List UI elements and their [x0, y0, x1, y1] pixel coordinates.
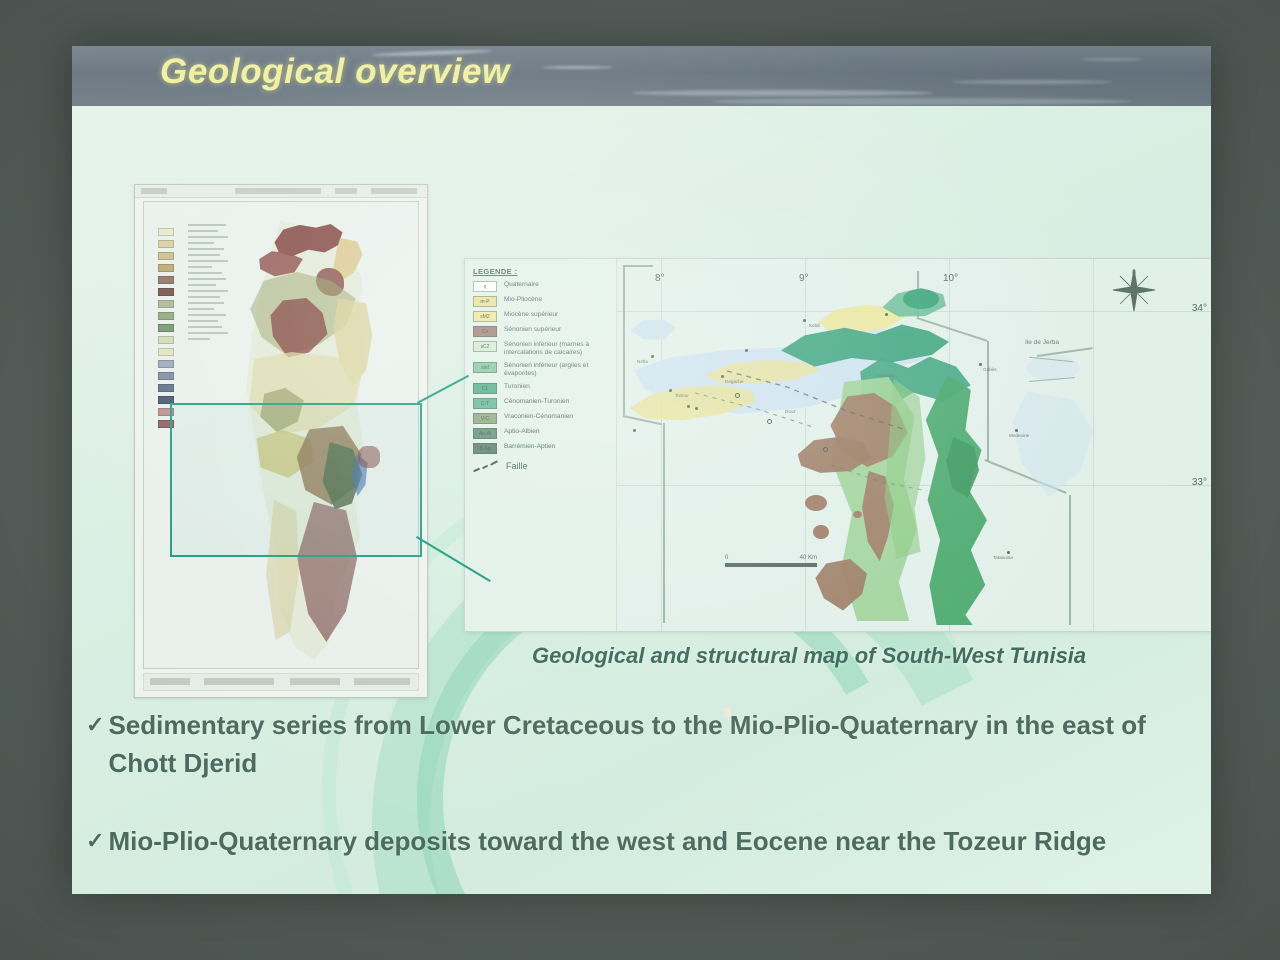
legend-label: Turonien [504, 383, 530, 391]
legend-item: V-CVraconien-Cénomanien [473, 413, 610, 424]
longitude-label-10: 10° [943, 273, 958, 284]
legend-swatch: C-T [473, 398, 497, 409]
borehole-marker [823, 447, 828, 452]
town-label: Tataouine [993, 555, 1013, 560]
legend-item: m-PMio-Pliocène [473, 296, 610, 307]
legend-item: sM2Miocène supérieur [473, 311, 610, 322]
town-marker [721, 375, 724, 378]
jerba-label: Ile de Jerba [1025, 339, 1059, 346]
town-label: Degache [725, 379, 743, 384]
legend-swatch: Cs [473, 326, 497, 337]
banner-streak [632, 90, 932, 96]
banner-streak [952, 80, 1112, 84]
longitude-label-9: 9° [799, 273, 809, 284]
legend-label: Aptio-Albien [504, 428, 540, 436]
legend-swatch: B-Ap [473, 443, 497, 454]
town-label: Tozeur [675, 393, 689, 398]
legend-item: CsSénonien supérieur [473, 326, 610, 337]
longitude-label-8: 8° [655, 273, 665, 284]
latitude-label-34: 34° [1192, 303, 1207, 314]
town-label: Nefta [637, 359, 648, 364]
town-marker [885, 313, 888, 316]
slide-title: Geological overview [160, 52, 510, 92]
legend-swatch: V-C [473, 413, 497, 424]
legend-label: Sénonien inférieur (argiles et évaporite… [504, 362, 610, 379]
legend-item: qQuaternaire [473, 281, 610, 292]
town-label: Medenine [1009, 433, 1029, 438]
checkmark-icon: ✓ [86, 706, 104, 744]
slide-title-banner: Geological overview [72, 46, 1211, 106]
southwest-tunisia-map-panel: LEGENDE : qQuaternairem-PMio-PliocènesM2… [464, 258, 1211, 632]
bullet-text: Sedimentary series from Lower Cretaceous… [108, 706, 1197, 782]
banner-streak [1082, 58, 1142, 61]
geo-unit-senonian-sup [805, 495, 827, 511]
study-area-highlight-rect [170, 403, 422, 557]
legend-item: B-ApBarrémien-Aptien [473, 443, 610, 454]
map-canvas: 8° 9° 10° 34° 33° Ile de Jerba [617, 259, 1211, 631]
legend-swatch: C1 [473, 383, 497, 394]
legend-item: Ap-AlAptio-Albien [473, 428, 610, 439]
legend-swatch: sM2 [473, 311, 497, 322]
geo-unit-aptian-albian [915, 375, 1005, 625]
borehole-marker [767, 419, 772, 424]
town-marker [669, 389, 672, 392]
borehole-marker [735, 393, 740, 398]
chott-el-gharsa [625, 317, 679, 343]
legend-label: Mio-Pliocène [504, 296, 542, 304]
town-marker [803, 319, 806, 322]
town-label: Kebili [809, 323, 820, 328]
town-label: Matmâta [877, 373, 895, 378]
sheet-legend-text [188, 224, 230, 344]
legend-rows: qQuaternairem-PMio-PliocènesM2Miocène su… [473, 281, 610, 454]
town-label: Gabès [983, 367, 997, 372]
scale-max: 40 Km [800, 555, 817, 561]
town-marker [745, 349, 748, 352]
legend-label: Vraconien-Cénomanien [504, 413, 573, 421]
legend-title: LEGENDE : [473, 267, 610, 276]
svg-text:N: N [1132, 270, 1136, 276]
sheet-footer [143, 673, 419, 691]
town-marker [1007, 551, 1010, 554]
checkmark-icon: ✓ [86, 822, 104, 860]
town-marker [651, 355, 654, 358]
legend-item: C-TCénomanien-Turonien [473, 398, 610, 409]
legend-swatch: sC2 [473, 341, 497, 352]
legend-fault-row: Faille [473, 460, 610, 472]
legend-item: sC2Sénonien inférieur (marnes à intercal… [473, 341, 610, 358]
geo-unit-senonian-sup [853, 511, 862, 518]
legend-swatch: m-P [473, 296, 497, 307]
map-scale-bar: 0 40 Km [725, 555, 817, 567]
fault-symbol-icon [473, 460, 499, 472]
town-marker [695, 407, 698, 410]
scale-min: 0 [725, 555, 728, 561]
legend-swatch: q [473, 281, 497, 292]
map-legend: LEGENDE : qQuaternairem-PMio-PliocènesM2… [465, 259, 617, 631]
geo-unit-turonian [903, 289, 939, 309]
sheet-header [135, 185, 427, 198]
legend-swatch: Ap-Al [473, 428, 497, 439]
presentation-slide: Geological overview [72, 46, 1211, 894]
banner-streak [542, 66, 612, 69]
bullet-text: Mio-Plio-Quaternary deposits toward the … [108, 822, 1197, 860]
bullet-list: ✓ Sedimentary series from Lower Cretaceo… [86, 706, 1197, 866]
town-label: Douz [785, 409, 796, 414]
town-marker [633, 429, 636, 432]
town-marker [687, 405, 690, 408]
latitude-label-33: 33° [1192, 477, 1207, 488]
bullet-item: ✓ Mio-Plio-Quaternary deposits toward th… [86, 822, 1197, 860]
projection-wall: Geological overview [0, 0, 1280, 960]
compass-rose-icon: N [1111, 267, 1157, 313]
scale-bar-line [725, 563, 817, 567]
geo-unit-senonian-sup [813, 525, 829, 539]
bullet-item: ✓ Sedimentary series from Lower Cretaceo… [86, 706, 1197, 782]
legend-item: C1Turonien [473, 383, 610, 394]
legend-fault-label: Faille [506, 461, 528, 471]
sheet-legend-swatches [150, 228, 184, 432]
town-marker [979, 363, 982, 366]
legend-item: sinfSénonien inférieur (argiles et évapo… [473, 362, 610, 379]
legend-label: Quaternaire [504, 281, 539, 289]
legend-label: Cénomanien-Turonien [504, 398, 569, 406]
slide-body: LEGENDE : qQuaternairem-PMio-PliocènesM2… [72, 106, 1211, 894]
legend-label: Sénonien inférieur (marnes à intercalati… [504, 341, 610, 358]
tunisia-geological-sheet [134, 184, 428, 698]
legend-label: Sénonien supérieur [504, 326, 561, 334]
legend-label: Barrémien-Aptien [504, 443, 555, 451]
town-marker [1015, 429, 1018, 432]
legend-label: Miocène supérieur [504, 311, 558, 319]
legend-swatch: sinf [473, 362, 497, 373]
figure-caption: Geological and structural map of South-W… [532, 643, 1086, 669]
banner-streak [712, 98, 1132, 105]
